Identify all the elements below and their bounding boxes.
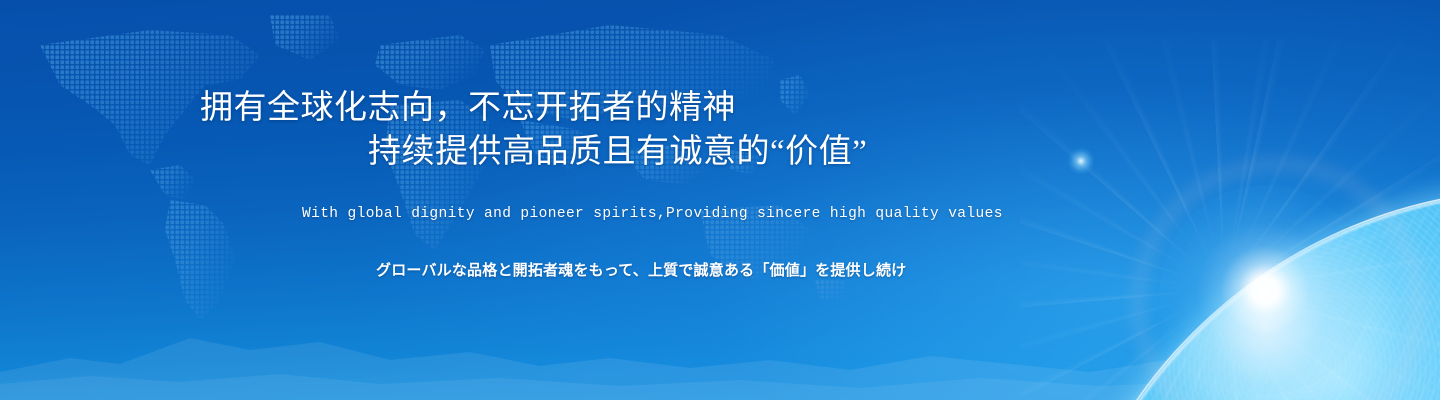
banner-copy: 拥有全球化志向，不忘开拓者的精神 持续提供高品质且有诚意的“价值” With g… — [0, 0, 1000, 400]
dot-world-map-graphic — [0, 0, 900, 330]
headline-line-1: 拥有全球化志向，不忘开拓者的精神 — [200, 92, 736, 125]
subheadline-english: With global dignity and pioneer spirits,… — [302, 206, 1003, 222]
headline-line-2: 持续提供高品质且有诚意的“价值” — [368, 136, 867, 169]
mountain-silhouette-graphic — [0, 280, 1440, 400]
subheadline-japanese: グローバルな品格と開拓者魂をもって、上質で誠意ある「価値」を提供し続け — [376, 259, 906, 280]
lens-flare-ring — [1132, 158, 1424, 400]
sun-rays-graphic — [1020, 40, 1440, 400]
planet-graphic — [1050, 190, 1440, 400]
planet-texture — [1050, 190, 1440, 400]
space-scene-graphic — [1020, 0, 1440, 400]
planet-limb-highlight — [1050, 190, 1440, 400]
sun-flare-graphic — [1160, 185, 1370, 395]
star-glow-icon — [1068, 148, 1094, 174]
hero-banner: 拥有全球化志向，不忘开拓者的精神 持续提供高品质且有诚意的“价值” With g… — [0, 0, 1440, 400]
